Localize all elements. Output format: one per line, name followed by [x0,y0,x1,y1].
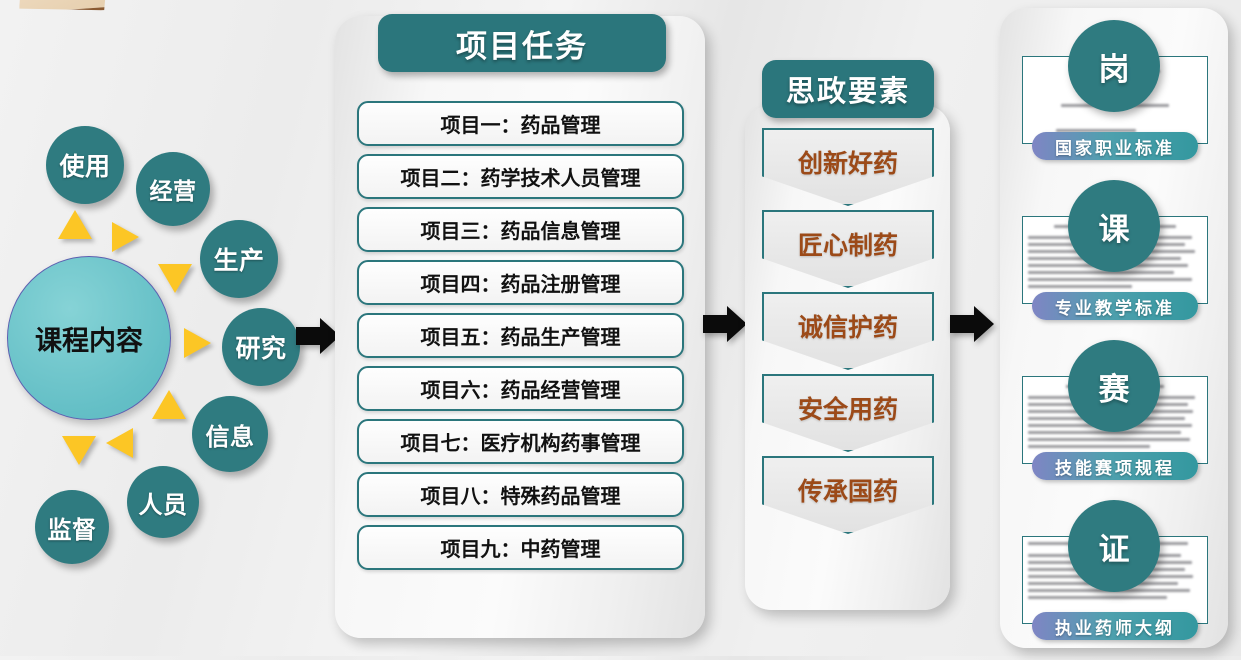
task-item[interactable]: 项目一：药品管理 [357,101,684,146]
arrow-shaft [703,315,729,333]
ideology-item[interactable]: 匠心制药 [762,210,934,288]
ideology-label: 诚信护药 [798,308,898,344]
standard-card[interactable]: 证 执业药师大纲 [1000,500,1228,660]
triangle-down-lower-icon [62,436,96,465]
ideology-label: 传承国药 [798,472,898,508]
arrow-head [974,306,994,342]
arrow-ideology-to-standards [950,306,996,342]
bubble-label: 人员 [139,485,188,520]
arrow-shaft [296,327,322,345]
standard-label: 执业药师大纲 [1032,612,1198,640]
ideology-label: 安全用药 [798,390,898,426]
task-label: 项目一：药品管理 [441,109,601,138]
task-label: 项目五：药品生产管理 [421,321,621,350]
arrow-shaft [950,315,976,333]
bubble-label: 使用 [59,147,110,183]
task-item[interactable]: 项目七：医疗机构药事管理 [357,419,684,464]
badge-text: 赛 [1099,364,1130,409]
task-label: 项目六：药品经营管理 [421,374,621,403]
tasks-list: 项目一：药品管理 项目二：药学技术人员管理 项目三：药品信息管理 项目四：药品注… [357,101,684,578]
standard-card[interactable]: 课 专业教学标准 [1000,180,1228,340]
standard-label-text: 专业教学标准 [1055,294,1175,319]
bubble-core-course-content[interactable]: 课程内容 [7,256,171,420]
slide-canvas: 使用 经营 生产 研究 信息 人员 监督 课程内容 [0,0,1241,656]
ideology-list: 创新好药 匠心制药 诚信护药 安全用药 传承国药 [762,128,934,538]
tasks-title-text: 项目任务 [456,21,588,66]
bubble-jingying[interactable]: 经营 [136,152,210,226]
standard-label-text: 执业药师大纲 [1055,614,1175,639]
task-label: 项目八：特殊药品管理 [421,480,621,509]
ideology-panel-title: 思政要素 [762,60,934,118]
task-label: 项目二：药学技术人员管理 [401,162,641,191]
bubble-label: 生产 [213,241,264,277]
bubble-yanjiu[interactable]: 研究 [222,308,300,386]
task-label: 项目三：药品信息管理 [421,215,621,244]
badge-text: 课 [1099,204,1130,249]
badge-text: 岗 [1099,44,1130,89]
task-item[interactable]: 项目三：药品信息管理 [357,207,684,252]
task-label: 项目四：药品注册管理 [421,268,621,297]
bubble-label: 监督 [48,510,97,545]
ideology-label: 创新好药 [798,144,898,180]
triangle-right-upper-icon [112,222,139,252]
ideology-item[interactable]: 创新好药 [762,128,934,206]
task-item[interactable]: 项目四：药品注册管理 [357,260,684,305]
bubble-xinxi[interactable]: 信息 [192,396,268,472]
ideology-label: 匠心制药 [798,226,898,262]
bubble-label: 研究 [235,329,286,365]
standard-card[interactable]: 岗 国家职业标准 [1000,20,1228,180]
paper-scrap-decoration [16,0,111,16]
ideology-item[interactable]: 传承国药 [762,456,934,534]
arrow-tasks-to-ideology [703,306,749,342]
standard-label-text: 国家职业标准 [1055,134,1175,159]
standard-label-text: 技能赛项规程 [1055,454,1175,479]
standard-badge: 赛 [1068,340,1160,432]
standards-list: 岗 国家职业标准 课 [1000,8,1228,648]
triangle-up-left-icon [58,210,92,239]
triangle-up-lower-icon [152,390,186,419]
bubble-shiyong[interactable]: 使用 [46,126,124,204]
standard-badge: 岗 [1068,20,1160,112]
task-label: 项目七：医疗机构药事管理 [401,427,641,456]
task-item[interactable]: 项目二：药学技术人员管理 [357,154,684,199]
bubble-label: 经营 [150,172,197,206]
task-item[interactable]: 项目八：特殊药品管理 [357,472,684,517]
badge-text: 证 [1099,524,1130,569]
bubble-renyuan[interactable]: 人员 [127,466,199,538]
triangle-left-lower-icon [106,428,133,458]
standard-label: 技能赛项规程 [1032,452,1198,480]
task-item[interactable]: 项目六：药品经营管理 [357,366,684,411]
tasks-panel-title: 项目任务 [378,14,666,72]
ideology-item[interactable]: 诚信护药 [762,292,934,370]
triangle-down-upper-icon [158,264,192,293]
standard-label: 国家职业标准 [1032,132,1198,160]
standard-card[interactable]: 赛 技能赛项规程 [1000,340,1228,500]
standard-label: 专业教学标准 [1032,292,1198,320]
ideology-item[interactable]: 安全用药 [762,374,934,452]
standard-badge: 证 [1068,500,1160,592]
core-label: 课程内容 [35,319,143,358]
task-item[interactable]: 项目九：中药管理 [357,525,684,570]
standard-badge: 课 [1068,180,1160,272]
bubble-shengchan[interactable]: 生产 [200,220,278,298]
arrow-head [727,306,747,342]
bubble-label: 信息 [206,417,255,452]
ideology-title-text: 思政要素 [786,68,910,110]
task-label: 项目九：中药管理 [441,533,601,562]
course-content-cluster: 使用 经营 生产 研究 信息 人员 监督 课程内容 [0,96,330,596]
bubble-jiandu[interactable]: 监督 [35,490,109,564]
task-item[interactable]: 项目五：药品生产管理 [357,313,684,358]
triangle-right-middle-icon [184,328,211,358]
